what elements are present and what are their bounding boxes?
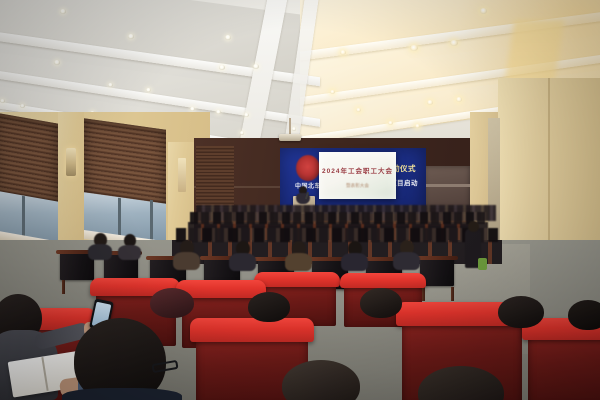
attendee-torso: [62, 388, 182, 400]
wall-whiteboard: [424, 166, 470, 208]
attendee-head: [150, 288, 194, 318]
banner-text-right-top: 动仪式: [392, 164, 428, 173]
audience-heads-row-3: [176, 228, 498, 242]
red-seat-top: [254, 272, 340, 287]
downlight-icon: [108, 83, 113, 87]
downlight-icon: [216, 110, 221, 114]
attendee-torso: [341, 253, 368, 271]
downlight-icon: [240, 131, 244, 135]
downlight-icon: [410, 45, 418, 51]
attendee-head: [498, 296, 544, 328]
downlight-icon: [330, 90, 335, 94]
downlight-icon: [292, 127, 296, 131]
standing-attendee-head: [468, 221, 479, 232]
pillar-trim: [178, 158, 186, 192]
red-seat-top: [340, 273, 426, 288]
downlight-icon: [356, 108, 361, 112]
downlight-icon: [20, 104, 25, 108]
downlight-icon: [54, 60, 60, 65]
downlight-icon: [244, 113, 249, 117]
downlight-icon: [456, 97, 462, 102]
speaker-torso: [296, 193, 310, 204]
downlight-icon: [0, 99, 5, 103]
stage-side-blind: [196, 146, 234, 208]
attendee-head: [360, 288, 402, 318]
wall-sconce: [66, 148, 76, 176]
downlight-icon: [450, 40, 458, 46]
screen-subline: 暨表彰大会: [322, 183, 393, 189]
screen-headline: 2024年工会职工大会: [322, 168, 393, 176]
attendee-torso: [173, 252, 200, 270]
wooden-chair-frame: [416, 256, 458, 260]
attendee-torso: [88, 244, 112, 260]
red-seat: [528, 330, 600, 400]
attendee-torso: [285, 253, 312, 271]
downlight-icon: [219, 65, 225, 70]
downlight-icon: [128, 34, 134, 39]
attendee-head: [248, 292, 290, 322]
whiteboard-tray: [424, 184, 470, 187]
downlight-icon: [225, 35, 231, 40]
downlight-icon: [146, 88, 151, 92]
downlight-icon: [415, 124, 420, 128]
attendee-torso: [118, 245, 141, 260]
window-mullion: [150, 200, 153, 244]
downlight-icon: [190, 107, 195, 111]
attendee-torso: [229, 253, 256, 271]
conference-hall-photo: 中国北车 动仪式 项目启动 2024年工会职工大会 暨表彰大会: [0, 0, 600, 400]
banner-text-right-bottom: 项目启动: [390, 180, 430, 188]
chair-leg: [62, 280, 65, 294]
wall-pillar: [58, 112, 84, 257]
green-bag: [478, 258, 487, 270]
attendee-head: [568, 300, 600, 330]
red-emblem-icon: [296, 155, 320, 181]
red-seat-top: [190, 318, 314, 342]
downlight-icon: [60, 9, 66, 14]
chair-leg: [451, 287, 454, 301]
attendee-torso: [393, 252, 420, 270]
chair-leg: [422, 287, 425, 301]
ceiling-projector: [279, 134, 301, 141]
downlight-icon: [427, 100, 433, 105]
downlight-icon: [388, 121, 393, 125]
downlight-icon: [340, 50, 346, 55]
window-blind-left: [0, 112, 58, 205]
audience-heads-row-4: [190, 212, 486, 224]
downlight-icon: [253, 64, 259, 69]
downlight-icon: [480, 8, 487, 14]
